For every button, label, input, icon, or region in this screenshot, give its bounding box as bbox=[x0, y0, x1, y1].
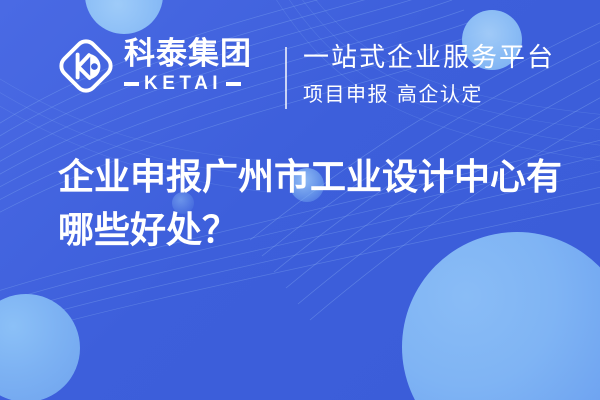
brand-logo: 科泰集团 KETAI bbox=[56, 36, 252, 96]
logo-dash-left-icon bbox=[124, 82, 139, 86]
brand-name-en-row: KETAI bbox=[124, 73, 252, 95]
slogan-secondary: 项目申报 高企认定 bbox=[303, 82, 555, 106]
header-divider bbox=[285, 47, 287, 109]
brand-name-cn: 科泰集团 bbox=[124, 37, 252, 70]
brand-name-en: KETAI bbox=[144, 73, 222, 95]
brand-logo-wordmark: 科泰集团 KETAI bbox=[124, 37, 252, 94]
banner-image: 科泰集团 KETAI 一站式企业服务平台 项目申报 高企认定 企业申报广州市工业… bbox=[0, 0, 600, 400]
ketai-diamond-monogram-logo-icon bbox=[56, 36, 116, 96]
banner-header: 科泰集团 KETAI 一站式企业服务平台 项目申报 高企认定 bbox=[0, 0, 600, 132]
slogan-primary: 一站式企业服务平台 bbox=[303, 42, 555, 75]
page-title: 企业申报广州市工业设计中心有哪些好处？ bbox=[58, 152, 568, 258]
header-slogan: 一站式企业服务平台 项目申报 高企认定 bbox=[303, 42, 555, 106]
logo-dash-right-icon bbox=[226, 82, 241, 86]
